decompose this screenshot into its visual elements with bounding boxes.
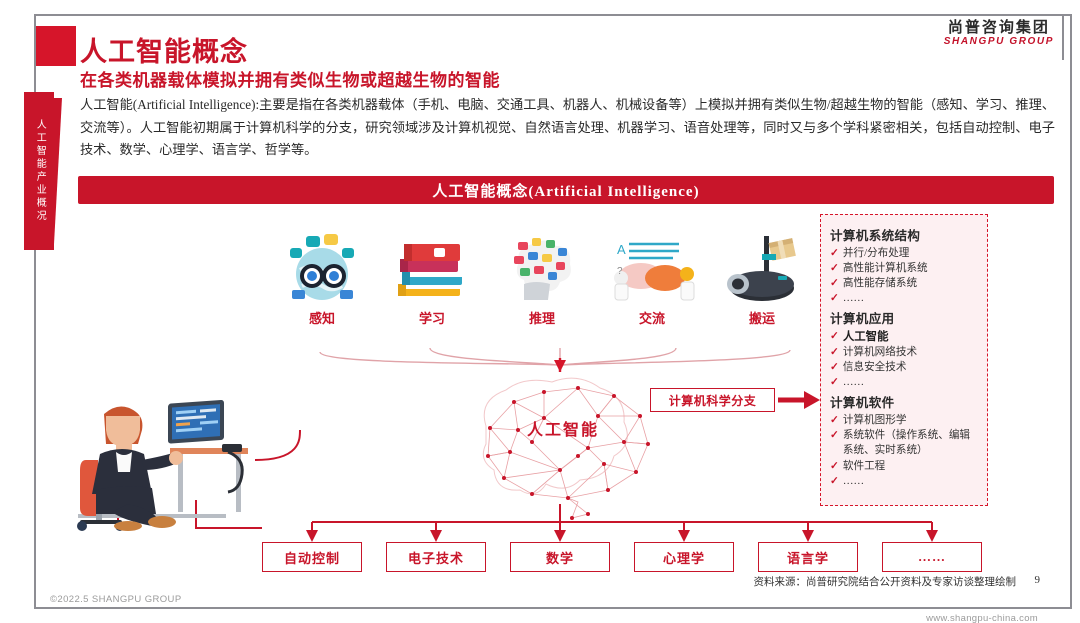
related-field-label: 数学 [546, 548, 574, 567]
brand-logo-en: SHANGPU GROUP [944, 37, 1054, 48]
check-icon: ✓ [830, 428, 839, 443]
agv-robot-icon [712, 228, 812, 304]
slide-canvas: 尚普咨询集团 SHANGPU GROUP 人工智能产业概况 人工智能概念 在各类… [0, 0, 1080, 623]
capability-item-0[interactable]: 感知 [272, 228, 372, 327]
branch-label-box[interactable]: 计算机科学分支 [650, 388, 775, 412]
copyright-text: ©2022.5 SHANGPU GROUP [50, 594, 182, 605]
capability-item-2[interactable]: 推理 [492, 228, 592, 327]
check-icon: ✓ [830, 413, 839, 428]
related-field-box-2[interactable]: 数学 [510, 542, 610, 572]
brand-logo: 尚普咨询集团 SHANGPU GROUP [944, 20, 1054, 47]
capability-label-2: 推理 [492, 308, 592, 327]
capability-item-3[interactable]: A ? 交流 [602, 228, 702, 327]
capability-label-3: 交流 [602, 308, 702, 327]
capability-label-0: 感知 [272, 308, 372, 327]
capability-item-1[interactable]: 学习 [382, 228, 482, 327]
check-icon: ✓ [830, 474, 839, 489]
related-field-label: 语言学 [787, 548, 829, 567]
panel-list-item: ✓软件工程 [830, 459, 978, 474]
capability-item-4[interactable]: 搬运 [712, 228, 812, 327]
source-note: 资料来源：尚普研究院结合公开资料及专家访谈整理绘制 [754, 574, 1017, 589]
brain-network-icon [448, 372, 678, 522]
panel-list-item: ✓系统软件（操作系统、编辑系统、实时系统） [830, 428, 978, 458]
website-url: www.shangpu-china.com [926, 613, 1038, 623]
check-icon: ✓ [830, 276, 839, 291]
panel-list-item: ✓高性能计算机系统 [830, 261, 978, 276]
page-subtitle: 在各类机器载体模拟并拥有类似生物或超越生物的智能 [80, 66, 500, 91]
related-field-label: 电子技术 [408, 548, 464, 567]
svg-text:?: ? [617, 266, 623, 277]
panel-group-list-0: ✓并行/分布处理 ✓高性能计算机系统 ✓高性能存储系统 ✓…… [830, 246, 978, 306]
title-accent-block [36, 26, 76, 66]
check-icon: ✓ [830, 291, 839, 306]
cs-domains-panel: 计算机系统结构 ✓并行/分布处理 ✓高性能计算机系统 ✓高性能存储系统 ✓…… … [820, 214, 988, 506]
panel-group-heading-1: 计算机应用 [830, 308, 978, 327]
check-icon: ✓ [830, 345, 839, 360]
check-icon: ✓ [830, 246, 839, 261]
panel-list-item: ✓…… [830, 375, 978, 390]
panel-list-item: ✓计算机网络技术 [830, 345, 978, 360]
capability-label-4: 搬运 [712, 308, 812, 327]
related-fields-row: 自动控制 电子技术 数学 心理学 语言学 …… [262, 542, 942, 572]
related-field-box-5[interactable]: …… [882, 542, 982, 572]
panel-group-heading-2: 计算机软件 [830, 392, 978, 411]
panel-group-list-1: ✓人工智能 ✓计算机网络技术 ✓信息安全技术 ✓…… [830, 329, 978, 390]
related-field-label: 心理学 [663, 548, 705, 567]
related-field-label: …… [918, 549, 946, 565]
svg-text:A: A [617, 242, 626, 257]
panel-list-item: ✓高性能存储系统 [830, 276, 978, 291]
related-field-box-3[interactable]: 心理学 [634, 542, 734, 572]
check-icon: ✓ [830, 360, 839, 375]
check-icon: ✓ [830, 261, 839, 276]
brand-logo-cn: 尚普咨询集团 [944, 20, 1054, 36]
person-at-desk-illustration [50, 370, 270, 540]
center-node[interactable]: 人工智能 [448, 372, 678, 522]
capability-label-1: 学习 [382, 308, 482, 327]
logo-divider [1062, 16, 1064, 60]
sidebar-tab-label: 人工智能产业概况 [24, 96, 54, 246]
panel-list-item: ✓并行/分布处理 [830, 246, 978, 261]
panel-list-item: ✓人工智能 [830, 329, 978, 345]
page-title: 人工智能概念 [80, 30, 248, 69]
panel-group-heading-0: 计算机系统结构 [830, 225, 978, 244]
body-paragraph: 人工智能(Artificial Intelligence):主要是指在各类机器载… [80, 94, 1055, 162]
frame-border-right [1070, 14, 1072, 609]
brain-icons-icon [492, 228, 592, 304]
capability-row: 感知 学习 [272, 228, 792, 340]
panel-list-item: ✓信息安全技术 [830, 360, 978, 375]
related-field-box-4[interactable]: 语言学 [758, 542, 858, 572]
panel-group-list-2: ✓计算机图形学 ✓系统软件（操作系统、编辑系统、实时系统） ✓软件工程 ✓…… [830, 413, 978, 488]
check-icon: ✓ [830, 459, 839, 474]
branch-label-text: 计算机科学分支 [669, 392, 757, 409]
related-field-box-0[interactable]: 自动控制 [262, 542, 362, 572]
panel-list-item: ✓…… [830, 474, 978, 489]
books-stack-icon [382, 228, 482, 304]
center-node-label: 人工智能 [448, 416, 678, 440]
related-field-label: 自动控制 [284, 548, 340, 567]
check-icon: ✓ [830, 375, 839, 390]
related-field-box-1[interactable]: 电子技术 [386, 542, 486, 572]
section-band-label: 人工智能概念(Artificial Intelligence) [432, 180, 699, 201]
frame-border-bottom [34, 607, 1072, 609]
frame-border-top [34, 14, 1072, 16]
panel-list-item: ✓…… [830, 291, 978, 306]
page-number: 9 [1035, 574, 1041, 586]
globe-glasses-icon [272, 228, 372, 304]
panel-list-item: ✓计算机图形学 [830, 413, 978, 428]
section-band: 人工智能概念(Artificial Intelligence) [78, 176, 1054, 204]
speech-bubbles-icon: A ? [602, 228, 702, 304]
check-icon: ✓ [830, 329, 839, 344]
